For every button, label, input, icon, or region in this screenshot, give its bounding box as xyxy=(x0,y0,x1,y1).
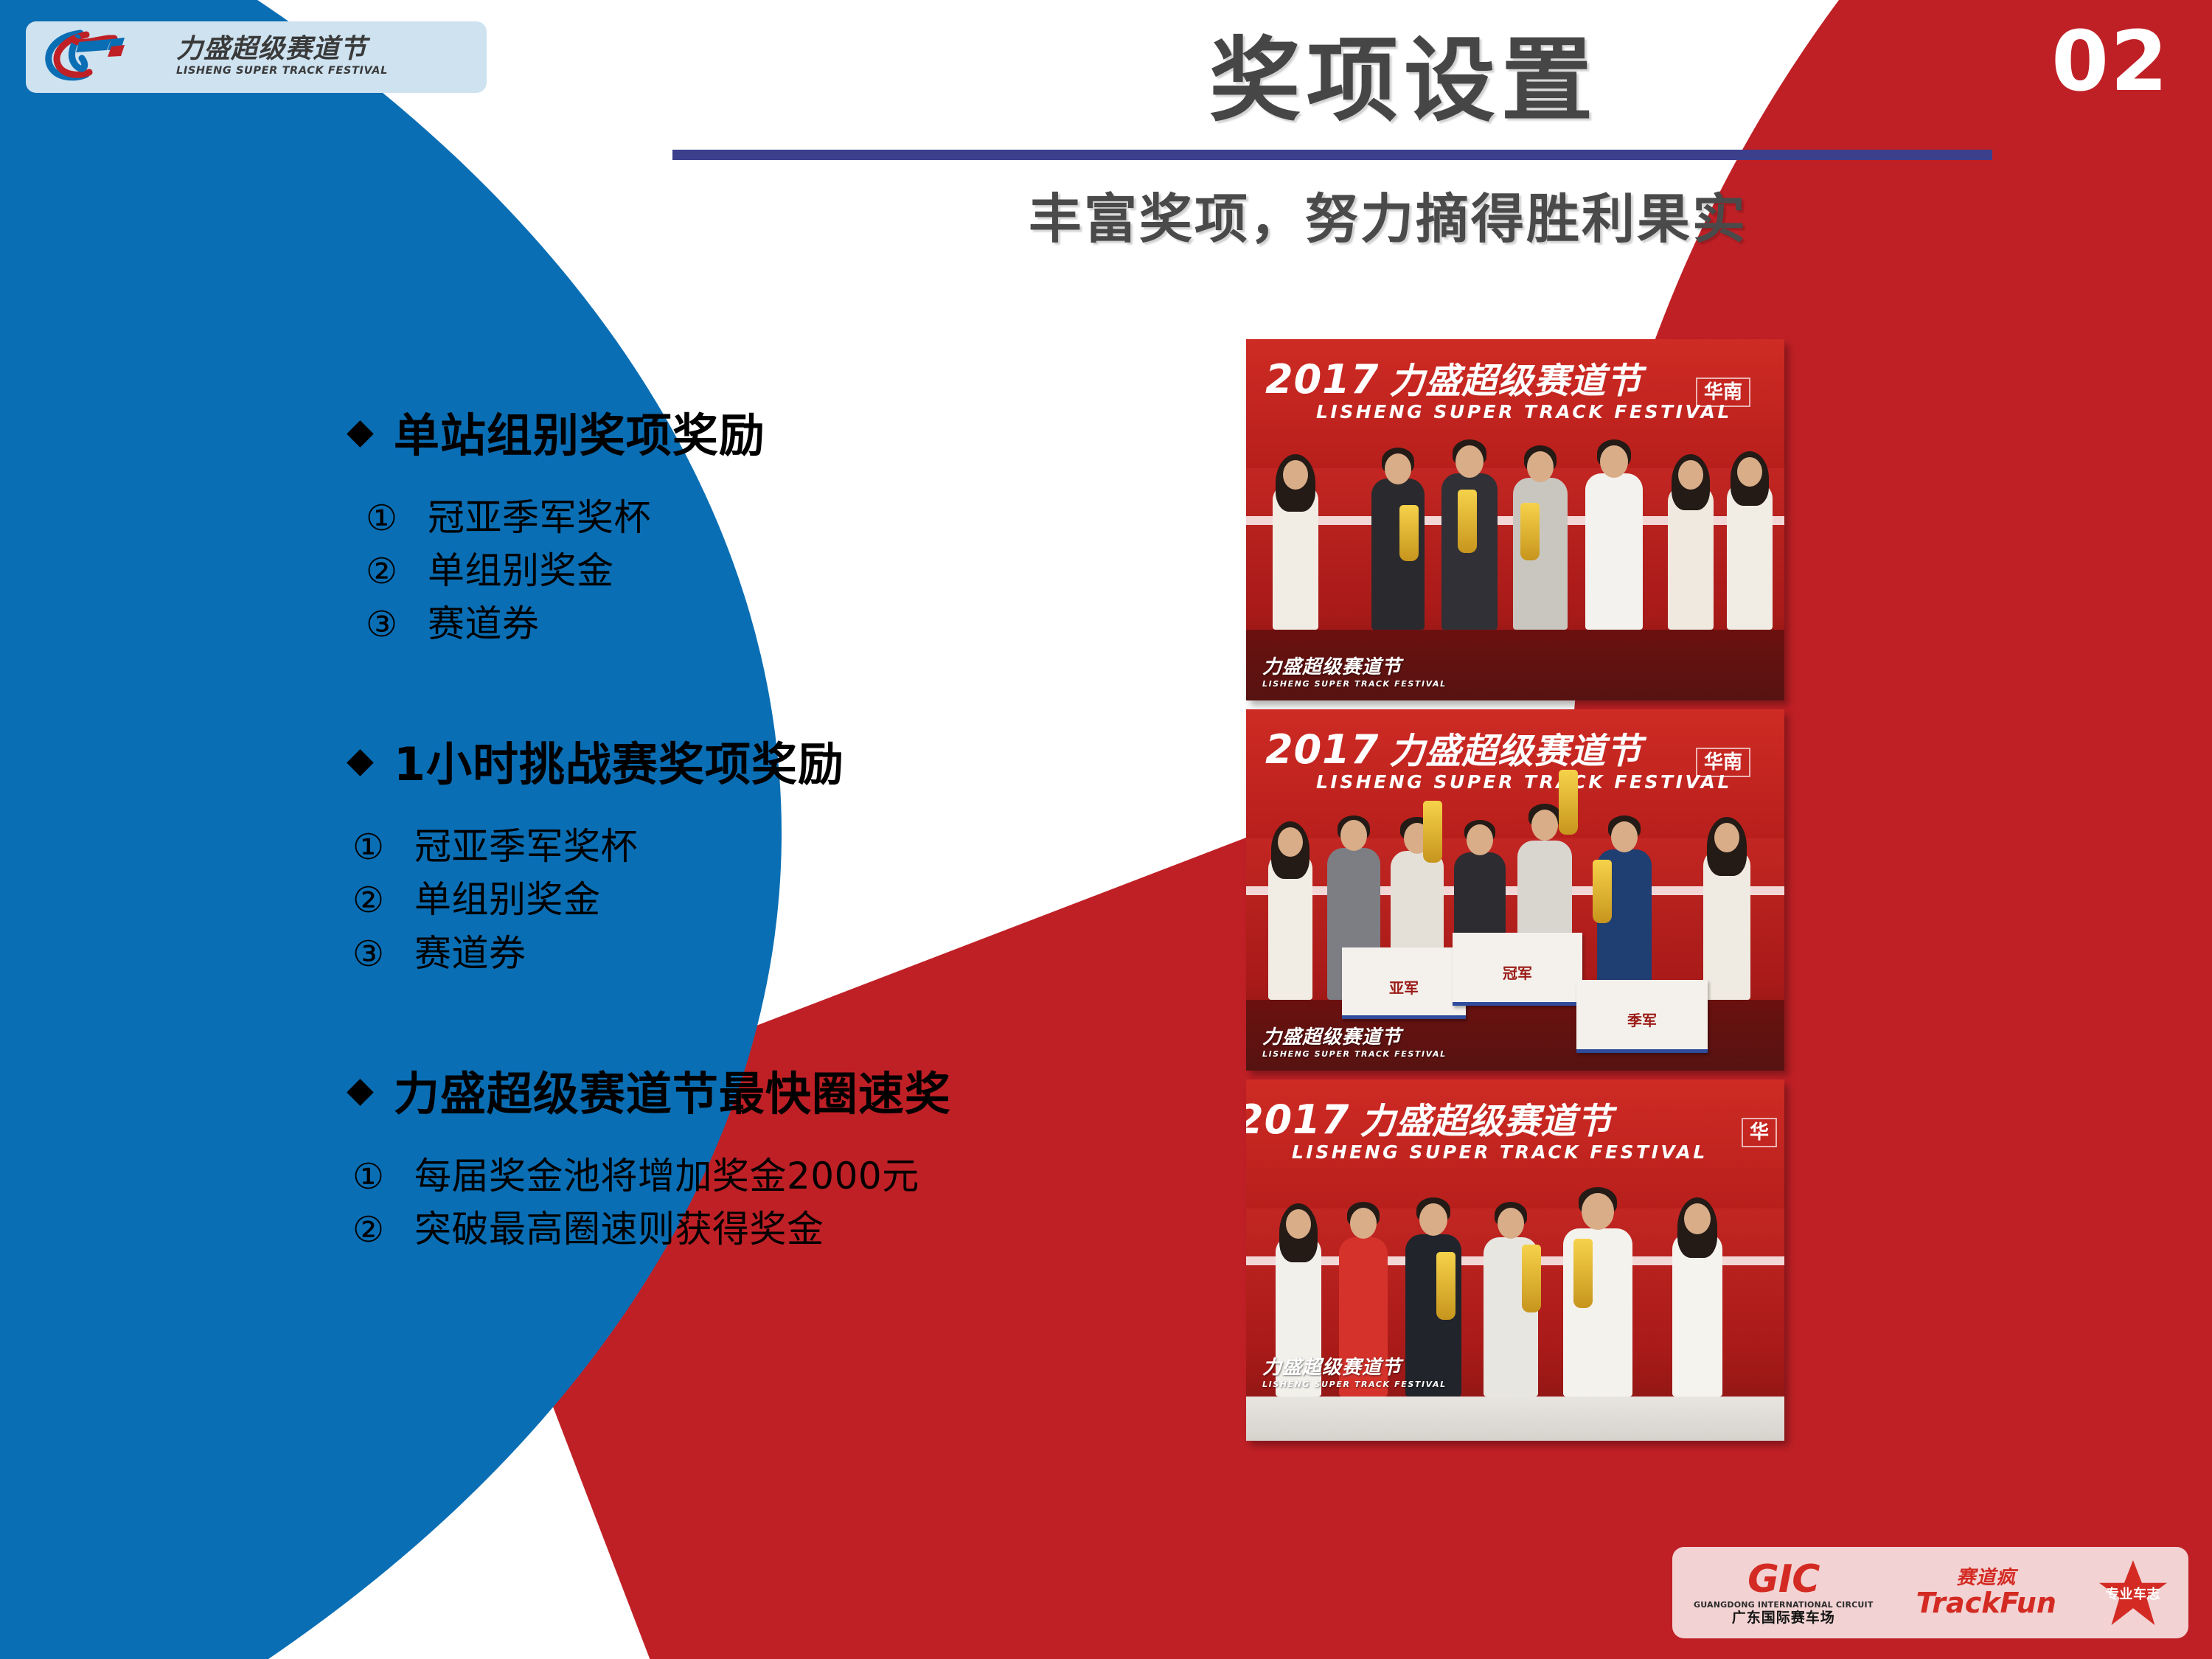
photo-award-ceremony-1: 2017力盛超级赛道节 LISHENG SUPER TRACK FESTIVAL… xyxy=(1246,339,1784,700)
head xyxy=(1278,827,1303,857)
certificate-label: 冠军 xyxy=(1453,961,1582,983)
head xyxy=(1419,1203,1447,1236)
photo-1-banner-title: 2017力盛超级赛道节 xyxy=(1265,360,1642,400)
page-title: 奖项设置 xyxy=(1209,6,1599,139)
certificate-card: 冠军 xyxy=(1453,933,1582,1006)
photo-1-watermark-en: LISHENG SUPER TRACK FESTIVAL xyxy=(1262,679,1447,689)
award-block-2: ◆ 1小时挑战赛奖项奖励 ① 冠亚季军奖杯 ② 单组别奖金 ③ 赛道券 xyxy=(347,727,1194,979)
head xyxy=(1283,460,1308,490)
photo-1-banner-en: LISHENG SUPER TRACK FESTIVAL xyxy=(1316,401,1732,422)
brand-name-en: LISHENG SUPER TRACK FESTIVAL xyxy=(176,65,388,77)
person xyxy=(1484,1237,1538,1397)
list-item: ② 单组别奖金 xyxy=(352,873,1194,926)
person xyxy=(1672,1233,1722,1397)
list-item-text: 单组别奖金 xyxy=(414,873,601,926)
list-item-text: 赛道券 xyxy=(428,597,540,650)
list-item-number: ① xyxy=(352,1152,414,1203)
head xyxy=(1600,445,1628,478)
photo-3-banner-en: LISHENG SUPER TRACK FESTIVAL xyxy=(1292,1141,1708,1163)
photo-1-banner: 2017力盛超级赛道节 LISHENG SUPER TRACK FESTIVAL… xyxy=(1246,339,1784,468)
sponsor-gic-logo: GIC GUANGDONG INTERNATIONAL CIRCUIT 广东国际… xyxy=(1694,1560,1874,1625)
award-block-3-list: ① 每届奖金池将增加奖金2000元 ② 突破最高圈速则获得奖金 xyxy=(347,1150,1194,1256)
trophy-icon xyxy=(1436,1252,1455,1320)
sponsor-gic-cn: 广东国际赛车场 xyxy=(1694,1611,1874,1625)
award-block-1-list: ① 冠亚季军奖杯 ② 单组别奖金 ③ 赛道券 xyxy=(347,491,1194,650)
person xyxy=(1513,478,1568,630)
trophy-icon xyxy=(1559,770,1578,835)
person xyxy=(1268,852,1312,1000)
person xyxy=(1727,482,1773,630)
person xyxy=(1563,1228,1632,1397)
list-item-number: ② xyxy=(352,875,414,926)
trophy-icon xyxy=(1423,801,1442,863)
list-item: ③ 赛道券 xyxy=(352,927,1194,980)
list-item-number: ② xyxy=(366,546,428,597)
photo-2-body: 亚军 冠军 季军 力盛超级赛道节 LISHENG SUPER TRACK FES… xyxy=(1246,838,1784,1071)
certificate-label: 季军 xyxy=(1576,1009,1708,1030)
trophy-icon xyxy=(1458,490,1477,553)
head xyxy=(1350,1208,1377,1239)
award-block-2-list: ① 冠亚季军奖杯 ② 单组别奖金 ③ 赛道券 xyxy=(347,820,1194,979)
list-item-number: ③ xyxy=(366,599,428,650)
photo-award-ceremony-3: 2017力盛超级赛道节 LISHENG SUPER TRACK FESTIVAL… xyxy=(1246,1079,1784,1441)
list-item: ② 突破最高圈速则获得奖金 xyxy=(352,1203,1194,1256)
photo-1-year: 2017 xyxy=(1265,360,1379,400)
person xyxy=(1273,484,1318,630)
head xyxy=(1611,821,1638,852)
person xyxy=(1585,473,1643,630)
certificate-card: 亚军 xyxy=(1342,947,1466,1019)
list-item-text: 单组别奖金 xyxy=(428,544,614,597)
sponsor-prozhi-cn: 专业车志 xyxy=(2099,1584,2167,1603)
head xyxy=(1684,1203,1711,1234)
list-item: ② 单组别奖金 xyxy=(366,544,1194,597)
photo-2-region-badge: 华南 xyxy=(1696,748,1750,777)
certificate-label: 亚军 xyxy=(1342,976,1466,998)
photo-2-banner-cn: 力盛超级赛道节 xyxy=(1389,734,1642,769)
diamond-bullet-icon: ◆ xyxy=(347,1072,375,1107)
photo-2-watermark: 力盛超级赛道节 LISHENG SUPER TRACK FESTIVAL xyxy=(1262,1022,1447,1059)
person xyxy=(1668,485,1714,630)
list-item: ① 冠亚季军奖杯 xyxy=(366,491,1194,544)
photo-3-floor xyxy=(1246,1397,1784,1441)
person xyxy=(1597,849,1652,1000)
photo-3-banner: 2017力盛超级赛道节 LISHENG SUPER TRACK FESTIVAL… xyxy=(1246,1079,1784,1208)
photo-2-watermark-cn: 力盛超级赛道节 xyxy=(1262,1026,1402,1048)
list-item-number: ① xyxy=(366,493,428,544)
head xyxy=(1714,823,1739,852)
award-block-1-heading: ◆ 单站组别奖项奖励 xyxy=(347,398,1194,465)
head xyxy=(1527,451,1554,482)
sponsor-bar: GIC GUANGDONG INTERNATIONAL CIRCUIT 广东国际… xyxy=(1672,1547,2188,1638)
sponsor-trackfun-cn: 赛道疯 xyxy=(1916,1568,2056,1587)
photo-2-watermark-en: LISHENG SUPER TRACK FESTIVAL xyxy=(1262,1049,1447,1059)
page-number: 02 xyxy=(2051,21,2169,103)
photo-3-watermark-en: LISHENG SUPER TRACK FESTIVAL xyxy=(1262,1380,1447,1389)
list-item-number: ② xyxy=(352,1205,414,1256)
award-block-1-heading-text: 单站组别奖项奖励 xyxy=(394,398,765,465)
head xyxy=(1340,820,1367,851)
award-block-2-heading-text: 1小时挑战赛奖项奖励 xyxy=(394,727,844,793)
list-item-text: 突破最高圈速则获得奖金 xyxy=(414,1203,824,1256)
photo-3-banner-title: 2017力盛超级赛道节 xyxy=(1246,1100,1613,1140)
photo-1-people xyxy=(1246,490,1784,630)
photo-2-banner: 2017力盛超级赛道节 LISHENG SUPER TRACK FESTIVAL… xyxy=(1246,709,1784,838)
photo-3-year: 2017 xyxy=(1246,1100,1349,1140)
photo-award-ceremony-2: 2017力盛超级赛道节 LISHENG SUPER TRACK FESTIVAL… xyxy=(1246,709,1784,1071)
photo-3-watermark: 力盛超级赛道节 LISHENG SUPER TRACK FESTIVAL xyxy=(1262,1352,1447,1389)
list-item-text: 冠亚季军奖杯 xyxy=(414,820,638,873)
sponsor-gic-en: GUANGDONG INTERNATIONAL CIRCUIT xyxy=(1694,1601,1874,1609)
head xyxy=(1467,824,1493,855)
award-block-2-heading: ◆ 1小时挑战赛奖项奖励 xyxy=(347,727,1194,793)
photo-3-banner-cn: 力盛超级赛道节 xyxy=(1360,1104,1613,1139)
sponsor-trackfun-logo: 赛道疯 TrackFun xyxy=(1916,1568,2056,1617)
photo-3-body: 力盛超级赛道节 LISHENG SUPER TRACK FESTIVAL xyxy=(1246,1208,1784,1441)
head xyxy=(1737,457,1762,487)
person xyxy=(1371,479,1425,630)
sponsor-prozhi-logo: 专业车志 xyxy=(2099,1560,2167,1625)
trophy-icon xyxy=(1573,1239,1593,1308)
award-block-1: ◆ 单站组别奖项奖励 ① 冠亚季军奖杯 ② 单组别奖金 ③ 赛道券 xyxy=(347,398,1194,650)
photo-1-watermark: 力盛超级赛道节 LISHENG SUPER TRACK FESTIVAL xyxy=(1262,652,1447,689)
photo-3-watermark-cn: 力盛超级赛道节 xyxy=(1262,1357,1402,1379)
list-item-text: 冠亚季军奖杯 xyxy=(428,491,651,544)
content-column: ◆ 单站组别奖项奖励 ① 冠亚季军奖杯 ② 单组别奖金 ③ 赛道券 xyxy=(347,398,1194,1256)
lisheng-track-icon xyxy=(35,26,175,89)
photo-2-people: 亚军 冠军 季军 xyxy=(1246,860,1784,1000)
page-subtitle: 丰富奖项，努力摘得胜利果实 xyxy=(1029,175,1747,253)
certificate-card: 季军 xyxy=(1576,980,1708,1053)
head xyxy=(1531,810,1558,841)
head xyxy=(1582,1193,1614,1230)
award-block-3-heading-text: 力盛超级赛道节最快圈速奖 xyxy=(394,1057,951,1123)
sponsor-gic-mark: GIC xyxy=(1694,1560,1874,1599)
photo-column: 2017力盛超级赛道节 LISHENG SUPER TRACK FESTIVAL… xyxy=(1246,339,1784,1441)
person xyxy=(1441,473,1498,630)
head xyxy=(1678,460,1703,490)
title-underline xyxy=(672,150,1992,160)
trophy-icon xyxy=(1399,505,1419,561)
award-block-3-heading: ◆ 力盛超级赛道节最快圈速奖 xyxy=(347,1057,1194,1123)
trophy-icon xyxy=(1593,860,1612,923)
brand-name-cn: 力盛超级赛道节 xyxy=(176,36,388,63)
sponsor-trackfun-en: TrackFun xyxy=(1916,1589,2056,1617)
photo-1-banner-cn: 力盛超级赛道节 xyxy=(1389,364,1642,399)
photo-3-region-badge: 华 xyxy=(1742,1118,1777,1147)
slide-root: 力盛超级赛道节 LISHENG SUPER TRACK FESTIVAL 奖项设… xyxy=(0,0,2212,1659)
brand-logo-card: 力盛超级赛道节 LISHENG SUPER TRACK FESTIVAL xyxy=(26,21,487,93)
photo-2-banner-en: LISHENG SUPER TRACK FESTIVAL xyxy=(1316,771,1732,793)
photo-1-body: 力盛超级赛道节 LISHENG SUPER TRACK FESTIVAL xyxy=(1246,468,1784,700)
diamond-bullet-icon: ◆ xyxy=(347,742,375,778)
trophy-icon xyxy=(1522,1245,1541,1312)
diamond-bullet-icon: ◆ xyxy=(347,414,375,449)
brand-logo-text: 力盛超级赛道节 LISHENG SUPER TRACK FESTIVAL xyxy=(176,36,388,77)
head xyxy=(1498,1208,1524,1239)
head xyxy=(1286,1209,1311,1239)
head xyxy=(1385,453,1411,484)
list-item-number: ③ xyxy=(352,929,414,980)
list-item: ③ 赛道券 xyxy=(366,597,1194,650)
head xyxy=(1455,445,1484,478)
trophy-icon xyxy=(1520,503,1540,560)
photo-2-banner-title: 2017力盛超级赛道节 xyxy=(1265,730,1642,770)
photo-1-watermark-cn: 力盛超级赛道节 xyxy=(1262,656,1402,678)
list-item: ① 每届奖金池将增加奖金2000元 xyxy=(352,1150,1194,1203)
list-item-text: 赛道券 xyxy=(414,927,526,980)
list-item-text: 每届奖金池将增加奖金2000元 xyxy=(414,1150,919,1203)
photo-2-year: 2017 xyxy=(1265,730,1379,770)
photo-1-region-badge: 华南 xyxy=(1696,378,1750,407)
list-item: ① 冠亚季军奖杯 xyxy=(352,820,1194,873)
list-item-number: ① xyxy=(352,822,414,873)
award-block-3: ◆ 力盛超级赛道节最快圈速奖 ① 每届奖金池将增加奖金2000元 ② 突破最高圈… xyxy=(347,1057,1194,1256)
person xyxy=(1703,849,1750,1000)
